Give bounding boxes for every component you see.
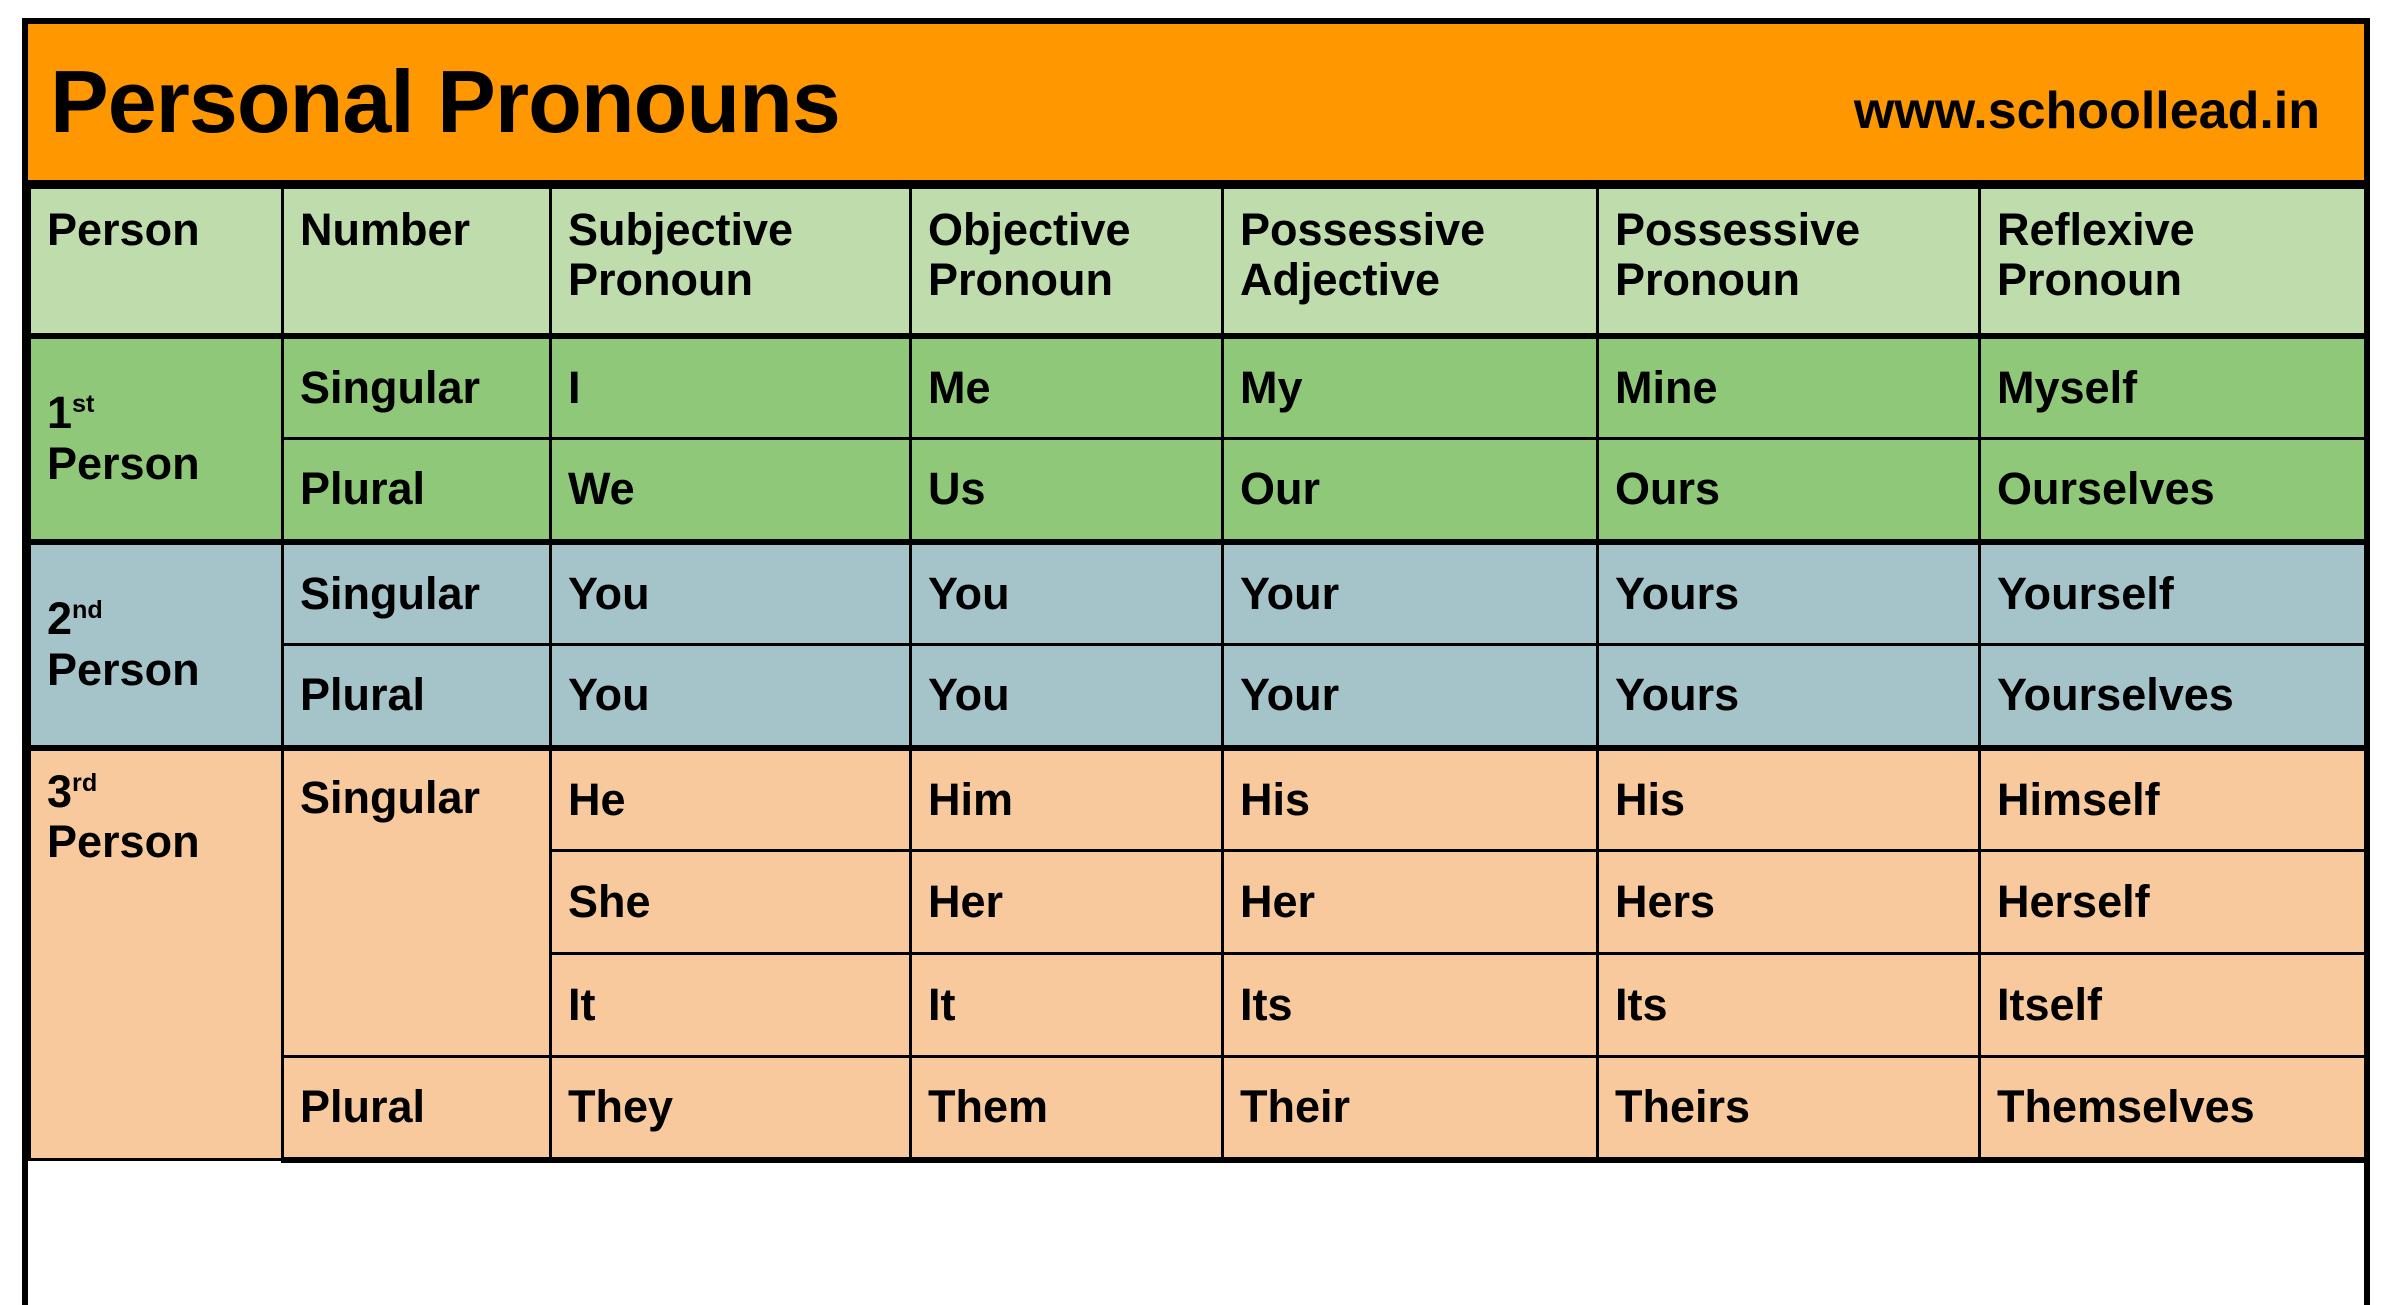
cell-subjective: She xyxy=(551,851,911,954)
column-header-possessive-adjective: Possessive Adjective xyxy=(1223,188,1598,336)
cell-objective: Me xyxy=(911,336,1223,439)
cell-possessive-pronoun: Mine xyxy=(1598,336,1980,439)
number-cell: Plural xyxy=(283,439,551,542)
column-header-possessive-pronoun-line2: Pronoun xyxy=(1615,255,1978,305)
column-header-reflexive-line1: Reflexive xyxy=(1997,204,2195,255)
pronoun-chart-page: Personal Pronouns www.schoollead.in Pers… xyxy=(0,0,2388,1305)
column-header-subjective-line2: Pronoun xyxy=(568,255,909,305)
cell-reflexive: Themselves xyxy=(1980,1057,2366,1160)
cell-possessive-pronoun: Ours xyxy=(1598,439,1980,542)
person-word: Person xyxy=(47,817,281,867)
cell-subjective: He xyxy=(551,748,911,851)
cell-objective: Us xyxy=(911,439,1223,542)
cell-objective: Her xyxy=(911,851,1223,954)
cell-objective: Them xyxy=(911,1057,1223,1160)
person-ordinal-number: 2 xyxy=(47,593,72,644)
cell-possessive-adjective: Your xyxy=(1223,542,1598,645)
cell-reflexive: Myself xyxy=(1980,336,2366,439)
table-header-row: Person Number Subjective Pronoun Objecti… xyxy=(30,188,2366,336)
cell-subjective: It xyxy=(551,954,911,1057)
cell-objective: It xyxy=(911,954,1223,1057)
cell-subjective: I xyxy=(551,336,911,439)
column-header-person: Person xyxy=(30,188,283,336)
cell-possessive-adjective: Your xyxy=(1223,645,1598,748)
cell-possessive-pronoun: Yours xyxy=(1598,542,1980,645)
column-header-possessive-pronoun-line1: Possessive xyxy=(1615,204,1860,255)
number-cell: Singular xyxy=(283,748,551,1057)
person-word: Person xyxy=(47,645,281,695)
cell-subjective: They xyxy=(551,1057,911,1160)
table-row: Plural We Us Our Ours Ourselves xyxy=(30,439,2366,542)
column-header-objective-line2: Pronoun xyxy=(928,255,1221,305)
title-banner: Personal Pronouns www.schoollead.in xyxy=(28,24,2364,186)
number-cell: Plural xyxy=(283,645,551,748)
cell-subjective: We xyxy=(551,439,911,542)
number-cell: Singular xyxy=(283,336,551,439)
column-header-possessive-adjective-line2: Adjective xyxy=(1240,255,1596,305)
cell-reflexive: Yourself xyxy=(1980,542,2366,645)
cell-possessive-pronoun: Hers xyxy=(1598,851,1980,954)
person-label-third: 3rd Person xyxy=(30,748,283,1160)
cell-reflexive: Himself xyxy=(1980,748,2366,851)
website-credit: www.schoollead.in xyxy=(1854,67,2338,137)
table-row: 3rd Person Singular He Him His His Himse… xyxy=(30,748,2366,851)
person-word: Person xyxy=(47,439,281,489)
page-title: Personal Pronouns xyxy=(50,58,840,146)
column-header-subjective-line1: Subjective xyxy=(568,204,793,255)
cell-possessive-pronoun: Its xyxy=(1598,954,1980,1057)
person-ordinal-suffix: nd xyxy=(72,596,103,624)
cell-possessive-adjective: Our xyxy=(1223,439,1598,542)
cell-possessive-pronoun: Theirs xyxy=(1598,1057,1980,1160)
cell-objective: You xyxy=(911,645,1223,748)
cell-possessive-adjective: Their xyxy=(1223,1057,1598,1160)
person-ordinal-suffix: rd xyxy=(72,769,97,797)
column-header-number-label: Number xyxy=(300,204,470,255)
person-ordinal-number: 1 xyxy=(47,387,72,438)
table-row: Plural You You Your Yours Yourselves xyxy=(30,645,2366,748)
cell-subjective: You xyxy=(551,542,911,645)
person-label-first: 1st Person xyxy=(30,336,283,542)
cell-reflexive: Itself xyxy=(1980,954,2366,1057)
cell-possessive-adjective: Its xyxy=(1223,954,1598,1057)
column-header-objective-pronoun: Objective Pronoun xyxy=(911,188,1223,336)
cell-reflexive: Herself xyxy=(1980,851,2366,954)
number-cell: Plural xyxy=(283,1057,551,1160)
cell-objective: Him xyxy=(911,748,1223,851)
column-header-reflexive-pronoun: Reflexive Pronoun xyxy=(1980,188,2366,336)
cell-possessive-adjective: Her xyxy=(1223,851,1598,954)
column-header-possessive-adjective-line1: Possessive xyxy=(1240,204,1485,255)
column-header-number: Number xyxy=(283,188,551,336)
cell-reflexive: Yourselves xyxy=(1980,645,2366,748)
column-header-subjective-pronoun: Subjective Pronoun xyxy=(551,188,911,336)
column-header-person-label: Person xyxy=(47,204,200,255)
cell-possessive-adjective: His xyxy=(1223,748,1598,851)
table-row: 2nd Person Singular You You Your Yours Y… xyxy=(30,542,2366,645)
cell-possessive-pronoun: Yours xyxy=(1598,645,1980,748)
table-row: 1st Person Singular I Me My Mine Myself xyxy=(30,336,2366,439)
person-ordinal-number: 3 xyxy=(47,766,72,817)
number-cell: Singular xyxy=(283,542,551,645)
column-header-objective-line1: Objective xyxy=(928,204,1131,255)
cell-subjective: You xyxy=(551,645,911,748)
column-header-possessive-pronoun: Possessive Pronoun xyxy=(1598,188,1980,336)
cell-objective: You xyxy=(911,542,1223,645)
person-ordinal-suffix: st xyxy=(72,390,94,418)
cell-possessive-adjective: My xyxy=(1223,336,1598,439)
person-label-second: 2nd Person xyxy=(30,542,283,748)
column-header-reflexive-line2: Pronoun xyxy=(1997,255,2364,305)
cell-reflexive: Ourselves xyxy=(1980,439,2366,542)
personal-pronouns-table: Person Number Subjective Pronoun Objecti… xyxy=(28,186,2367,1163)
chart-frame: Personal Pronouns www.schoollead.in Pers… xyxy=(22,18,2370,1305)
cell-possessive-pronoun: His xyxy=(1598,748,1980,851)
table-row: Plural They Them Their Theirs Themselves xyxy=(30,1057,2366,1160)
